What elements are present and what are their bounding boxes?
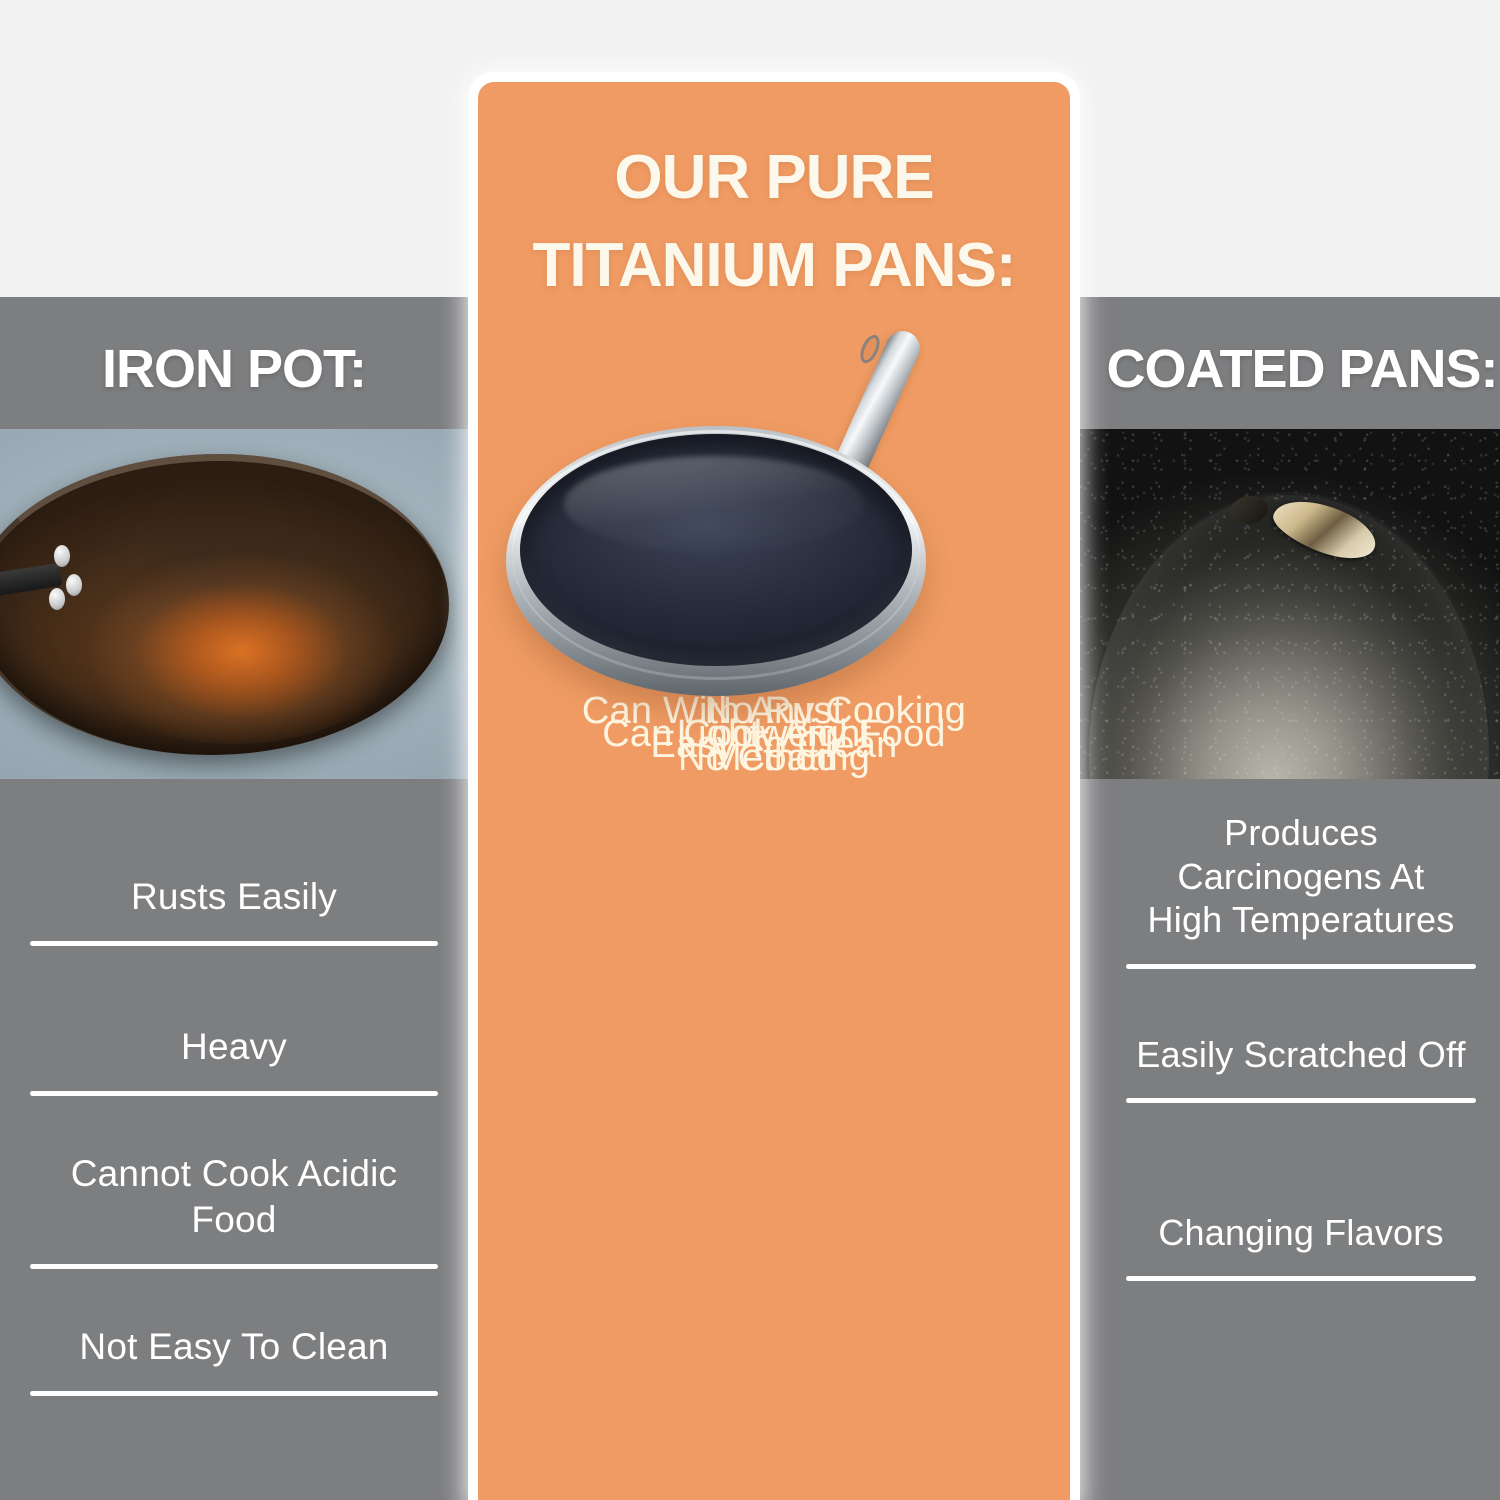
list-item: Heavy xyxy=(22,985,446,1135)
feature-divider xyxy=(1126,964,1476,969)
feature-divider xyxy=(30,1391,438,1396)
list-item: Not Easy To Clean xyxy=(22,1285,446,1435)
comparison-panel-iron-pot: IRON POT: Rusts Easily Heavy Cannot Cook… xyxy=(0,297,468,1500)
list-item: Easily Scratched Off xyxy=(1118,979,1484,1157)
coated-pans-title: COATED PANS: xyxy=(1078,297,1500,429)
feature-label: Easily Scratched Off xyxy=(1130,1033,1471,1077)
rusty-iron-wok-photo xyxy=(0,429,468,779)
comparison-panel-titanium-pans: OUR PURE TITANIUM PANS: No Rust No Coati… xyxy=(478,82,1070,1500)
feature-divider xyxy=(1126,1098,1476,1103)
comparison-panel-coated-pans: COATED PANS: Produces Carcinogens At Hig… xyxy=(1078,297,1500,1500)
iron-pot-title: IRON POT: xyxy=(0,297,468,429)
wok-rivet xyxy=(54,545,70,567)
feature-divider xyxy=(30,1091,438,1096)
list-item: Cannot Cook Acidic Food xyxy=(22,1135,446,1285)
feature-divider xyxy=(30,1264,438,1269)
coated-pans-feature-list: Produces Carcinogens At High Temperature… xyxy=(1078,779,1500,1500)
feature-label: Heavy xyxy=(175,1024,293,1069)
pan-rim xyxy=(512,430,920,680)
iron-pot-feature-list: Rusts Easily Heavy Cannot Cook Acidic Fo… xyxy=(0,779,468,1500)
list-item: Changing Flavors xyxy=(1118,1157,1484,1335)
titanium-pans-feature-list: No Rust No Coating Lightweight Can Cook … xyxy=(478,736,1070,1500)
list-item: Produces Carcinogens At High Temperature… xyxy=(1118,801,1484,979)
wok-rivet xyxy=(66,574,82,596)
feature-label: Cannot Cook Acidic Food xyxy=(22,1151,446,1241)
list-item: Rusts Easily xyxy=(22,835,446,985)
feature-label: Changing Flavors xyxy=(1152,1211,1449,1255)
feature-label: Rusts Easily xyxy=(125,874,343,919)
feature-label: Not Easy To Clean xyxy=(73,1324,394,1369)
feature-divider xyxy=(30,941,438,946)
feature-label: Produces Carcinogens At High Temperature… xyxy=(1118,811,1484,943)
peeling-coated-pan-photo xyxy=(1078,429,1500,779)
feature-divider xyxy=(1126,1276,1476,1281)
titanium-frying-pan-photo xyxy=(478,306,1070,736)
titanium-pans-title: OUR PURE TITANIUM PANS: xyxy=(532,82,1015,310)
